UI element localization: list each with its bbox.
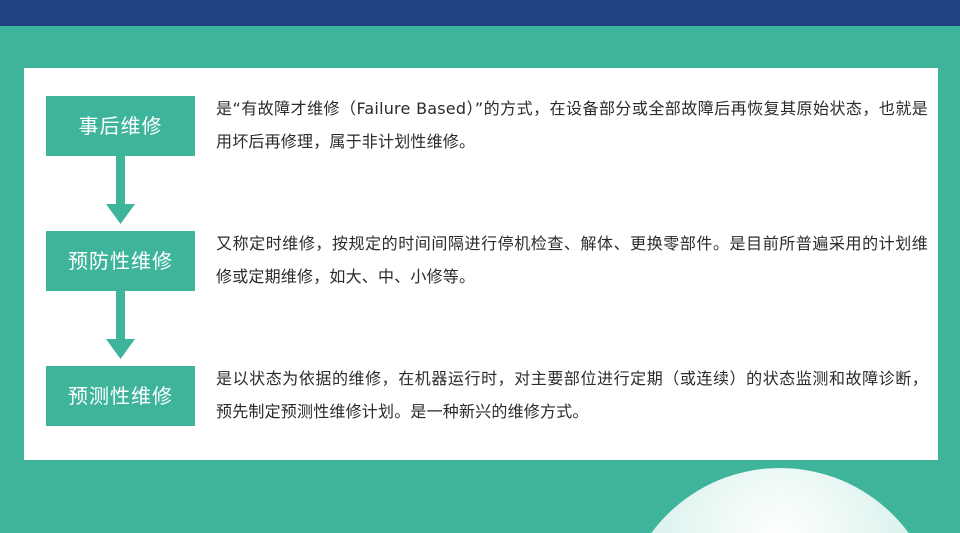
- content-card: 事后维修 是“有故障才维修（Failure Based）”的方式，在设备部分或全…: [24, 68, 938, 460]
- step-description-2: 又称定时维修，按规定的时间间隔进行停机检查、解体、更换零部件。是目前所普遍采用的…: [216, 227, 928, 293]
- step-label-box-3[interactable]: 预测性维修: [46, 366, 195, 426]
- step-description-3: 是以状态为依据的维修，在机器运行时，对主要部位进行定期（或连续）的状态监测和故障…: [216, 362, 928, 428]
- step-label-3: 预测性维修: [68, 386, 173, 406]
- arrow-down-icon: [106, 156, 135, 231]
- step-label-1: 事后维修: [79, 116, 163, 136]
- step-label-2: 预防性维修: [68, 251, 173, 271]
- step-label-box-1[interactable]: 事后维修: [46, 96, 195, 156]
- slide-root: 事后维修 是“有故障才维修（Failure Based）”的方式，在设备部分或全…: [0, 0, 960, 533]
- top-accent-bar: [0, 0, 960, 26]
- arrow-down-icon: [106, 291, 135, 366]
- step-description-1: 是“有故障才维修（Failure Based）”的方式，在设备部分或全部故障后再…: [216, 92, 928, 158]
- gradient-circle-decoration: [620, 468, 940, 533]
- step-label-box-2[interactable]: 预防性维修: [46, 231, 195, 291]
